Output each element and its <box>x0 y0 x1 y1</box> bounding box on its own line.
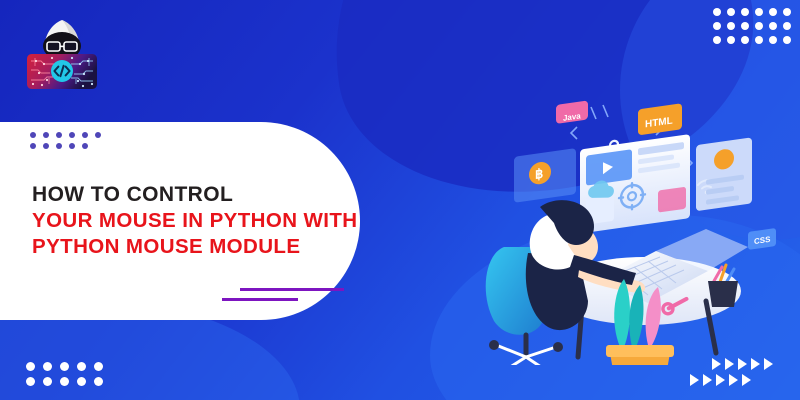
main-screen-panel <box>580 134 690 233</box>
headline-line-1: HOW TO CONTROL <box>32 182 352 208</box>
banner-root: Java HTML ฿ <box>0 0 800 400</box>
arrow-row-bottom <box>690 374 751 386</box>
svg-text:฿: ฿ <box>535 166 543 182</box>
headline-line-2: YOUR MOUSE IN PYTHON WITH <box>32 208 352 234</box>
arrow-right-icon <box>703 374 712 386</box>
page-title: HOW TO CONTROL YOUR MOUSE IN PYTHON WITH… <box>32 182 352 260</box>
bottom-right-arrows <box>690 358 790 392</box>
java-badge: Java <box>556 100 588 123</box>
arrow-right-icon <box>751 358 760 370</box>
arrow-right-icon <box>716 374 725 386</box>
bitcoin-panel: ฿ <box>514 148 576 203</box>
arrow-right-icon <box>738 358 747 370</box>
arrow-right-icon <box>729 374 738 386</box>
arrow-right-icon <box>690 374 699 386</box>
arrow-right-icon <box>764 358 773 370</box>
underline-segment-top <box>240 288 344 291</box>
bottom-left-dot-grid <box>26 362 111 392</box>
html-badge: HTML <box>638 103 682 135</box>
css-badge: CSS <box>748 228 776 250</box>
right-panel <box>696 137 752 211</box>
arrow-right-icon <box>725 358 734 370</box>
developer-at-desk-illustration: Java HTML ฿ <box>470 95 800 365</box>
hacker-code-logo[interactable] <box>14 14 110 98</box>
logo-svg <box>14 14 110 98</box>
underline-segment-bottom <box>222 298 298 301</box>
purple-dot-grid <box>30 132 108 154</box>
headline-line-3: PYTHON MOUSE MODULE <box>32 234 352 260</box>
arrow-right-icon <box>742 374 751 386</box>
headline-card: HOW TO CONTROL YOUR MOUSE IN PYTHON WITH… <box>0 122 360 320</box>
arrow-row-top <box>712 358 773 370</box>
purple-underline <box>222 288 352 310</box>
arrow-right-icon <box>712 358 721 370</box>
svg-text:Java: Java <box>563 111 581 123</box>
top-right-dot-grid <box>713 8 797 50</box>
